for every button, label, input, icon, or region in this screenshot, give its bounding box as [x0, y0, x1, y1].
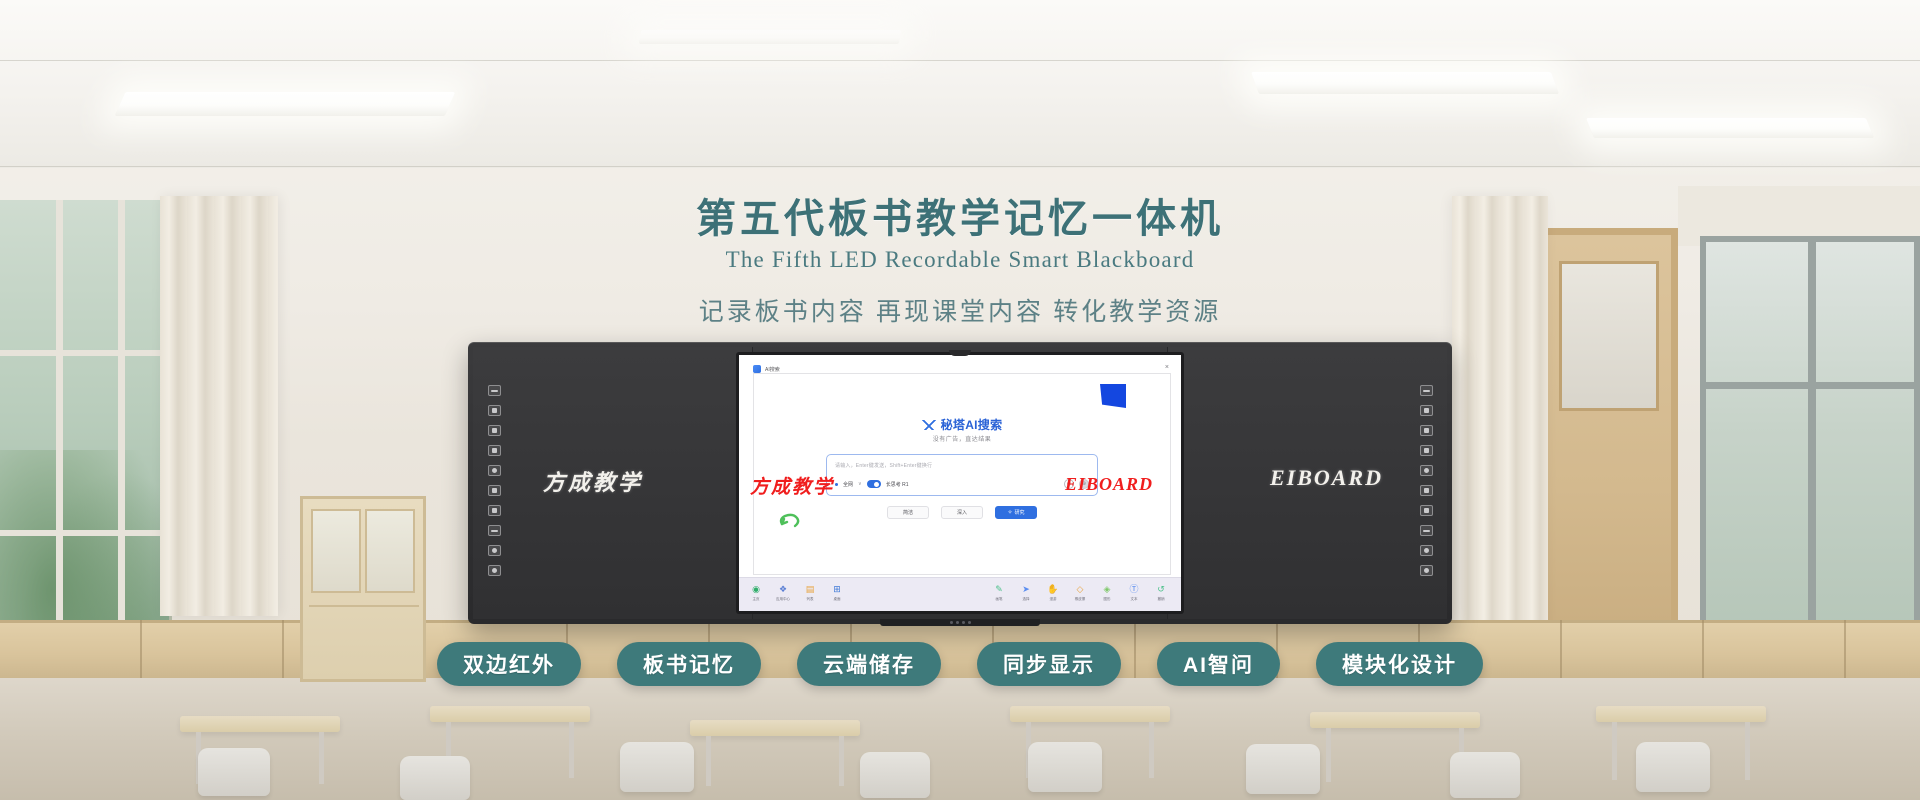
display-button[interactable]	[488, 385, 501, 396]
cabinet-shelf	[309, 605, 419, 607]
select-tool-icon[interactable]: ➤ 选择	[1017, 583, 1035, 602]
eraser-tool-icon[interactable]: ◇ 橡皮擦	[1071, 583, 1089, 602]
mode-action-row: 简洁 深入 ✧ 研究	[754, 506, 1170, 519]
capture-button[interactable]	[488, 485, 501, 496]
blackboard-bottom-trim	[880, 619, 1040, 626]
shape-glyph: ◈	[1101, 583, 1113, 595]
close-icon[interactable]: ×	[1165, 364, 1169, 371]
hand-glyph: ✋	[1047, 583, 1059, 595]
student-desk	[180, 716, 340, 732]
pill-dual-infrared[interactable]: 双边红外	[437, 642, 581, 686]
shape-label: 图形	[1104, 597, 1111, 602]
deep-think-label: 长思考 R1	[886, 481, 909, 488]
window-mullion	[1706, 382, 1920, 389]
student-chair	[1246, 744, 1320, 794]
system-toolbar[interactable]: ◉ 主页 ❖ 应用中心 ▤ 列表 ⊞ 桌面	[739, 577, 1181, 611]
share-tool-icon[interactable]: ⤺ 分享	[1179, 583, 1181, 602]
apps-label: 应用中心	[776, 597, 790, 602]
desk-legs	[1326, 728, 1464, 782]
stop-button[interactable]	[1420, 505, 1433, 516]
pen-alt-button[interactable]	[488, 425, 501, 436]
page-button[interactable]	[1420, 445, 1433, 456]
pen-glyph: ✎	[993, 583, 1005, 595]
trim-dot	[950, 621, 953, 624]
pill-sync-display[interactable]: 同步显示	[977, 642, 1121, 686]
cabinet-pane	[311, 509, 361, 593]
apps-glyph: ❖	[777, 583, 789, 595]
list-icon[interactable]: ▤ 列表	[801, 583, 819, 602]
simple-mode-button[interactable]: 简洁	[887, 506, 929, 519]
windows-icon[interactable]: ⊞ 桌面	[828, 583, 846, 602]
search-input[interactable]: 请输入，Enter键发送，Shift+Enter键换行	[835, 462, 932, 469]
ceiling-light	[115, 92, 456, 116]
pen-tool-icon[interactable]: ✎ 画笔	[990, 583, 1008, 602]
home-glyph: ◉	[750, 583, 762, 595]
deep-think-toggle[interactable]	[867, 480, 881, 488]
pen-label: 画笔	[996, 597, 1003, 602]
ceiling-light	[1586, 118, 1874, 138]
select-label: 选择	[1023, 597, 1030, 602]
metaso-logo-icon	[922, 420, 936, 430]
chalk-text-left: 方成教学	[543, 465, 643, 497]
page-tagline: 记录板书内容 再现课堂内容 转化教学资源	[0, 292, 1920, 328]
hero-headline: 第五代板书教学记忆一体机 The Fifth LED Recordable Sm…	[0, 196, 1920, 328]
left-control-strip[interactable]	[485, 385, 503, 576]
brand-row: 秘塔AI搜索	[754, 416, 1170, 433]
student-chair	[1450, 752, 1520, 798]
research-button[interactable]: ✧ 研究	[995, 506, 1037, 519]
pen-button[interactable]	[1420, 405, 1433, 416]
apps-icon[interactable]: ❖ 应用中心	[774, 583, 792, 602]
shape-tool-icon[interactable]: ◈ 图形	[1098, 583, 1116, 602]
pill-modular-design[interactable]: 模块化设计	[1316, 642, 1483, 686]
student-chair	[1028, 742, 1102, 792]
undo-glyph: ↺	[1155, 583, 1167, 595]
undo-arrow-icon[interactable]	[776, 510, 802, 530]
window-mullion	[0, 350, 172, 356]
blackboard-right-panel[interactable]: EIBOARD	[1167, 347, 1447, 619]
text-tool-icon[interactable]: Ⓣ 文本	[1125, 583, 1143, 602]
chevron-down-icon[interactable]: ∨	[858, 481, 862, 487]
settings-button[interactable]	[1420, 545, 1433, 556]
student-desk	[1596, 706, 1766, 722]
ceiling-light	[1251, 72, 1559, 94]
chalk-text-right: EIBOARD	[1270, 465, 1383, 491]
student-desk	[430, 706, 590, 722]
ceiling-light	[639, 30, 901, 44]
student-chair	[620, 742, 694, 792]
list-label: 列表	[807, 597, 814, 602]
scope-selector[interactable]: 全网	[843, 481, 853, 488]
stop-button[interactable]	[488, 505, 501, 516]
student-chair	[1636, 742, 1710, 792]
brand-tagline: 没有广告，直达结果	[754, 434, 1170, 443]
power-button[interactable]	[1420, 565, 1433, 576]
page-title: 第五代板书教学记忆一体机	[0, 196, 1920, 242]
ceiling	[0, 0, 1920, 168]
display-button[interactable]	[1420, 385, 1433, 396]
app-logo-icon	[753, 365, 761, 373]
right-control-strip[interactable]	[1417, 385, 1435, 576]
scope-dot-icon	[835, 483, 838, 486]
pill-cloud-storage[interactable]: 云端储存	[797, 642, 941, 686]
settings-button[interactable]	[488, 545, 501, 556]
student-desk	[1010, 706, 1170, 722]
deep-mode-button[interactable]: 深入	[941, 506, 983, 519]
classroom-hero-banner: 第五代板书教学记忆一体机 The Fifth LED Recordable Sm…	[0, 0, 1920, 800]
brand-name: 秘塔AI搜索	[941, 416, 1003, 433]
ceiling-seam	[0, 166, 1920, 167]
pen-button[interactable]	[488, 405, 501, 416]
toolbar-left-group: ◉ 主页 ❖ 应用中心 ▤ 列表 ⊞ 桌面	[739, 578, 854, 602]
record-button[interactable]	[1420, 465, 1433, 476]
hand-label: 漫游	[1050, 597, 1057, 602]
text-glyph: Ⓣ	[1128, 583, 1140, 595]
red-ink-annotation-en: EIBOARD	[1065, 474, 1153, 495]
undo-tool-icon[interactable]: ↺ 撤销	[1152, 583, 1170, 602]
student-desk	[690, 720, 860, 736]
hand-tool-icon[interactable]: ✋ 漫游	[1044, 583, 1062, 602]
trim-dot	[968, 621, 971, 624]
search-options-row: 全网 ∨ 长思考 R1 ◎ ⊕	[835, 478, 1089, 490]
home-icon[interactable]: ◉ 主页	[747, 583, 765, 602]
power-button[interactable]	[488, 565, 501, 576]
windows-glyph: ⊞	[831, 583, 843, 595]
student-desk	[1310, 712, 1480, 728]
blue-decoration-shape	[1100, 384, 1126, 408]
pause-button[interactable]	[1420, 525, 1433, 536]
feature-pill-row: 双边红外 板书记忆 云端储存 同步显示 AI智问 模块化设计	[0, 642, 1920, 686]
student-chair	[198, 748, 270, 796]
student-chair	[400, 756, 470, 800]
eraser-glyph: ◇	[1074, 583, 1086, 595]
blackboard-left-panel[interactable]: 方成教学	[473, 347, 753, 619]
eraser-label: 橡皮擦	[1075, 597, 1086, 602]
red-ink-annotation-cn: 方成教学	[750, 472, 834, 499]
desk-legs	[706, 736, 844, 786]
trim-dot	[962, 621, 965, 624]
camera-notch	[949, 350, 971, 356]
trim-dot	[956, 621, 959, 624]
pause-button[interactable]	[488, 525, 501, 536]
window-mullion	[0, 530, 172, 536]
research-button-label: 研究	[1015, 509, 1025, 516]
search-box[interactable]: 请输入，Enter键发送，Shift+Enter键换行 全网 ∨ 长思考 R1 …	[826, 454, 1098, 496]
select-glyph: ➤	[1020, 583, 1032, 595]
pill-board-memory[interactable]: 板书记忆	[617, 642, 761, 686]
home-label: 主页	[753, 597, 760, 602]
page-subtitle-en: The Fifth LED Recordable Smart Blackboar…	[0, 247, 1920, 273]
ceiling-seam	[0, 60, 1920, 61]
windows-label: 桌面	[834, 597, 841, 602]
record-button[interactable]	[488, 465, 501, 476]
toolbar-center-group: ✎ 画笔 ➤ 选择 ✋ 漫游 ◇ 橡皮擦	[982, 578, 1181, 602]
list-glyph: ▤	[804, 583, 816, 595]
sparkle-icon: ✧	[1007, 509, 1012, 516]
window-title: AI搜索	[765, 366, 780, 373]
student-chair	[860, 752, 930, 798]
page-button[interactable]	[488, 445, 501, 456]
text-label: 文本	[1131, 597, 1138, 602]
pill-ai-ask[interactable]: AI智问	[1157, 642, 1280, 686]
capture-button[interactable]	[1420, 485, 1433, 496]
pen-alt-button[interactable]	[1420, 425, 1433, 436]
undo-label: 撤销	[1158, 597, 1165, 602]
cabinet-pane	[365, 509, 415, 593]
